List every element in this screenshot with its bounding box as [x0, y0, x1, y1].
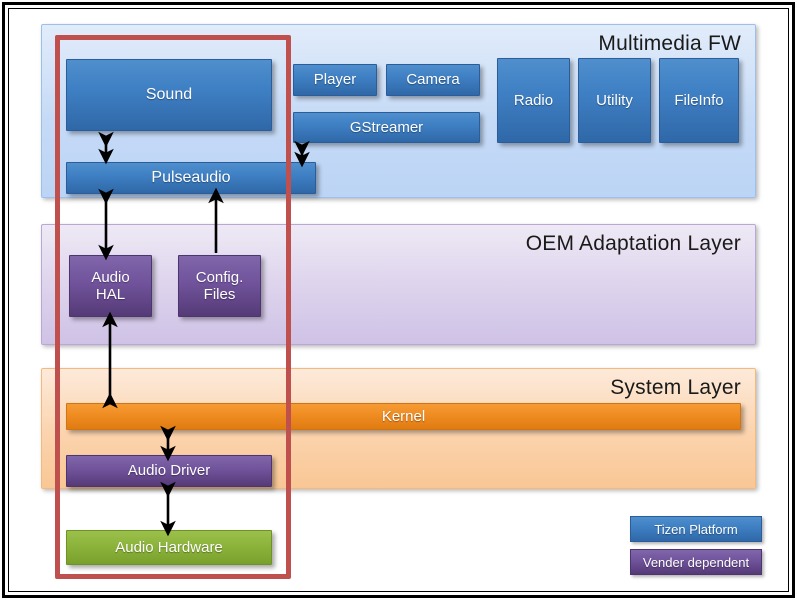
diagram-canvas: Multimedia FW Sound Pulseaudio Player Ca… [0, 0, 797, 600]
connection-arrows [0, 0, 797, 600]
